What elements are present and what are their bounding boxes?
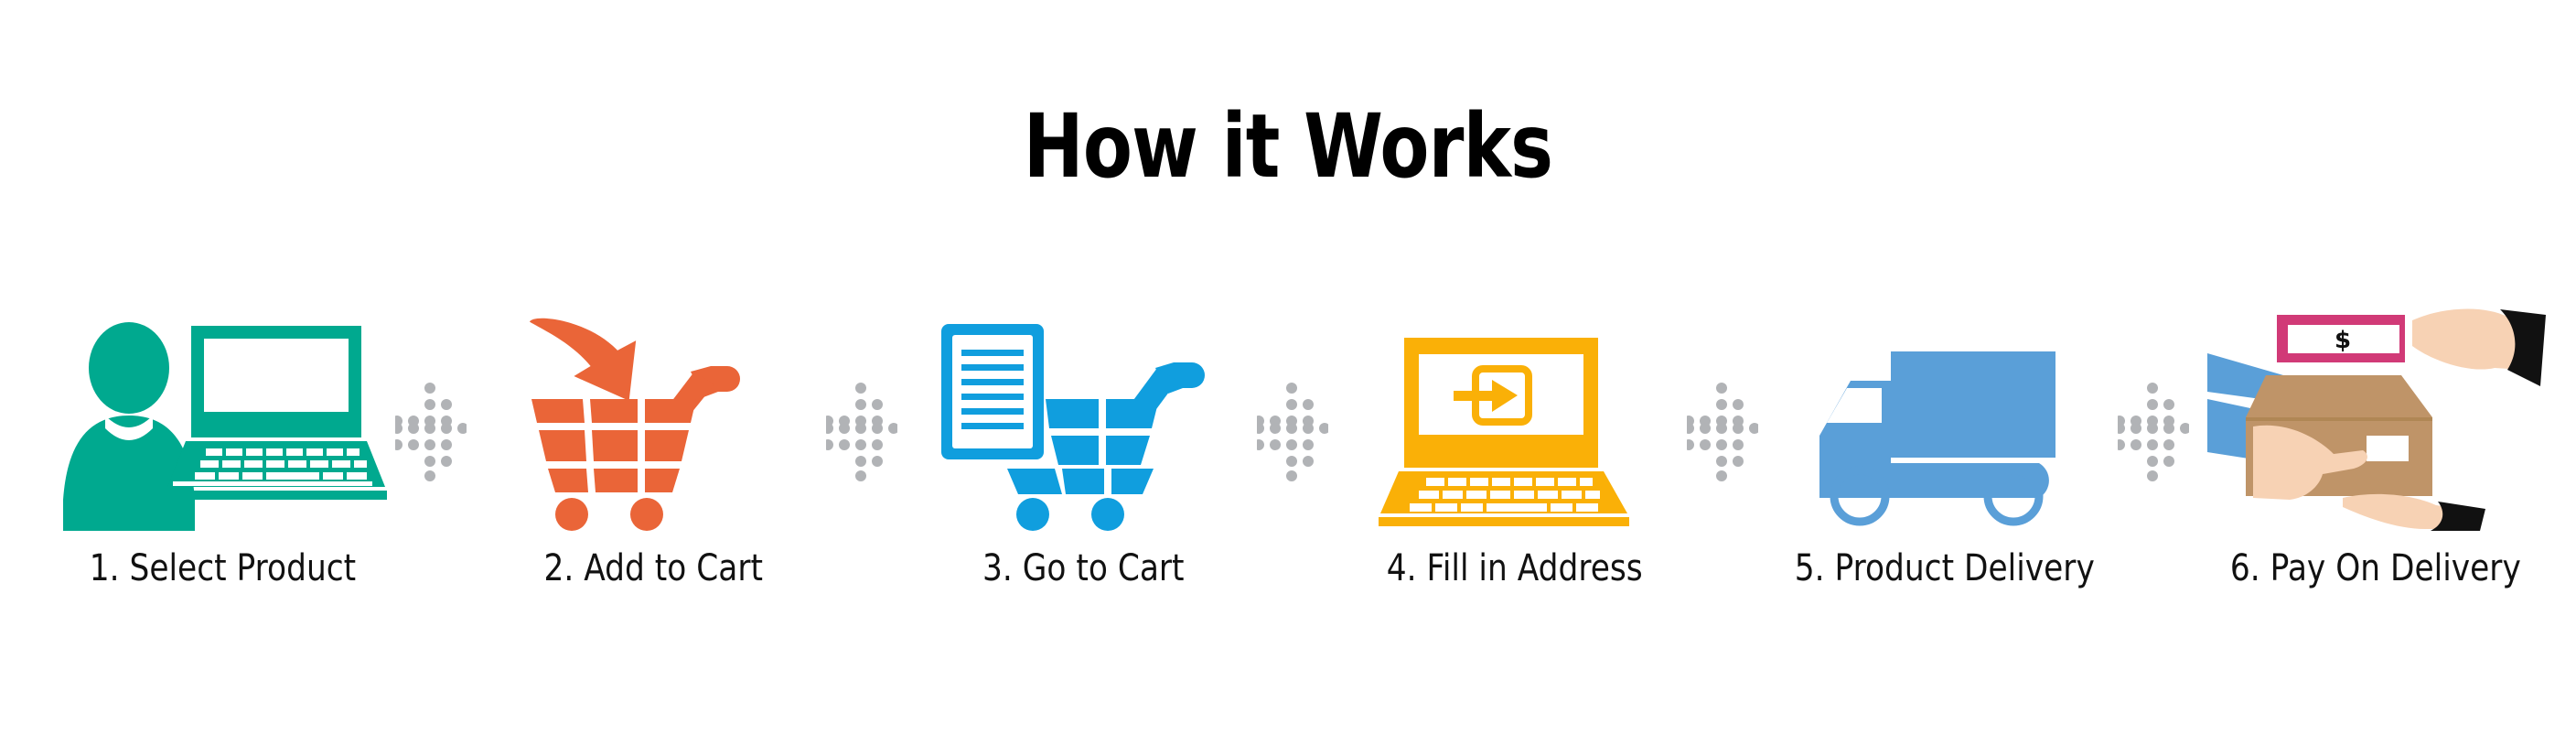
person-laptop-icon — [48, 302, 397, 531]
dotted-arrow-right-icon — [1687, 373, 1758, 483]
page-title: How it Works — [231, 103, 2344, 190]
laptop-login-arrow-icon — [1339, 302, 1689, 531]
step-4-fill-in-address[interactable]: 4. Fill in Address — [1339, 302, 1689, 650]
hands-box-cash-icon: $ — [2201, 302, 2550, 531]
how-it-works-infographic: How it Works — [0, 0, 2576, 745]
step-3-go-to-cart[interactable]: 3. Go to Cart — [909, 302, 1259, 650]
dotted-arrow-right-icon — [2118, 373, 2189, 483]
money-dollar-symbol: $ — [2334, 327, 2351, 354]
delivery-truck-icon — [1770, 302, 2120, 531]
step-label: 1. Select Product — [89, 547, 355, 589]
step-1-select-product[interactable]: 1. Select Product — [48, 302, 397, 650]
step-label: 6. Pay On Delivery — [2230, 547, 2521, 589]
document-and-cart-icon — [909, 302, 1259, 531]
step-label: 3. Go to Cart — [982, 547, 1185, 589]
step-2-add-to-cart[interactable]: 2. Add to Cart — [478, 302, 828, 650]
step-5-product-delivery[interactable]: 5. Product Delivery — [1770, 302, 2120, 650]
step-label: 4. Fill in Address — [1386, 547, 1642, 589]
step-label: 2. Add to Cart — [543, 547, 762, 589]
steps-row: 1. Select Product — [48, 302, 2550, 650]
dotted-arrow-right-icon — [395, 373, 467, 483]
step-6-pay-on-delivery[interactable]: $ 6. Pay On D — [2201, 302, 2550, 650]
dotted-arrow-right-icon — [826, 373, 897, 483]
step-label: 5. Product Delivery — [1795, 547, 2095, 589]
dotted-arrow-right-icon — [1257, 373, 1328, 483]
cart-with-curved-arrow-icon — [478, 302, 828, 531]
